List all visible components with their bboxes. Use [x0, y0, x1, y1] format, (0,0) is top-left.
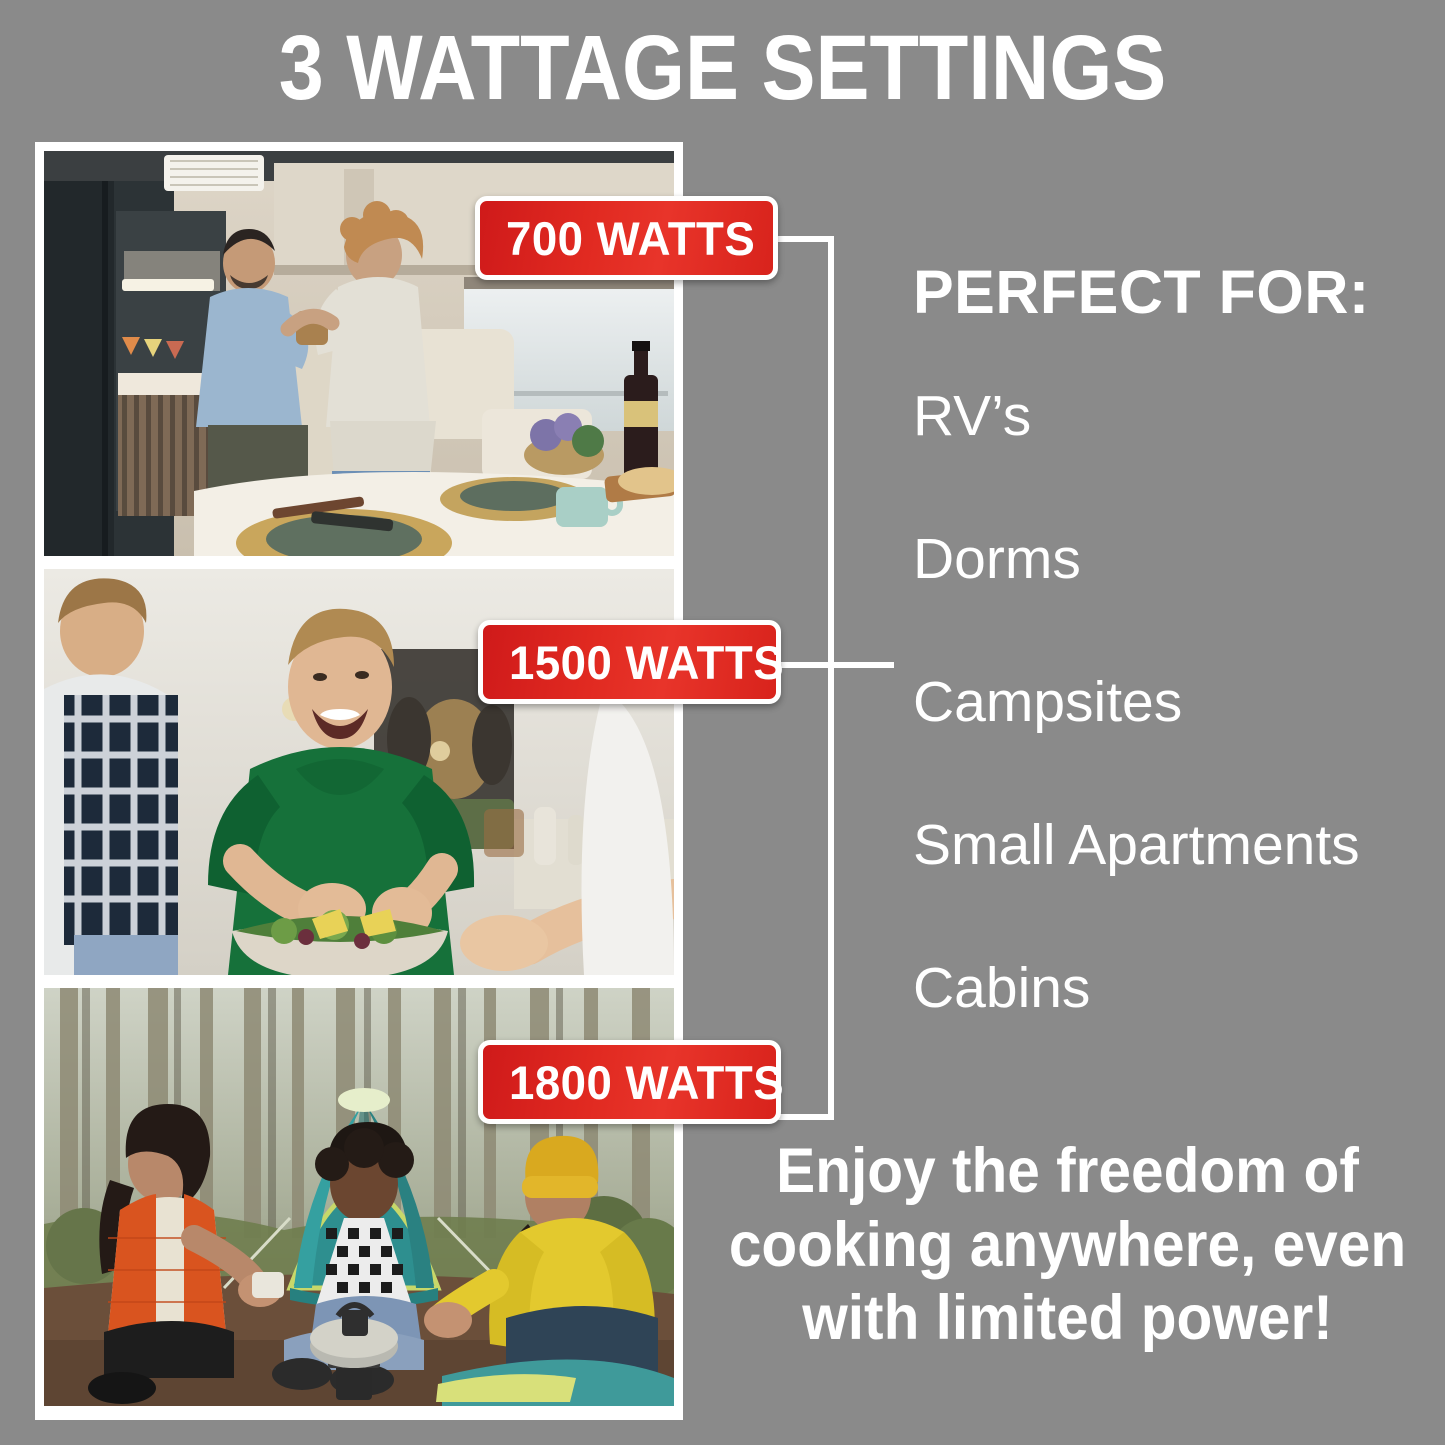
- photo-stack: [44, 151, 674, 1411]
- use-case-campsites: Campsites: [913, 674, 1433, 731]
- infographic-canvas: 3 WATTAGE SETTINGS: [0, 0, 1445, 1445]
- wattage-badge-1800: 1800 WATTS: [478, 1040, 781, 1124]
- perfect-for-heading: PERFECT FOR:: [913, 262, 1370, 323]
- use-case-dorms: Dorms: [913, 531, 1433, 588]
- tagline-text: Enjoy the freedom of cooking anywhere, e…: [726, 1135, 1410, 1356]
- wattage-badge-1500: 1500 WATTS: [478, 620, 781, 704]
- use-case-rvs: RV’s: [913, 388, 1433, 445]
- bracket-arm-1800: [778, 1114, 834, 1120]
- use-case-cabins: Cabins: [913, 960, 1433, 1017]
- page-title: 3 WATTAGE SETTINGS: [87, 22, 1359, 114]
- bracket-arm-1500: [778, 662, 834, 668]
- wattage-badge-700-label: 700 WATTS: [506, 215, 755, 262]
- wattage-badge-700: 700 WATTS: [475, 196, 778, 280]
- photo-frame: [35, 142, 683, 1420]
- use-case-small-apartments: Small Apartments: [913, 817, 1433, 874]
- bracket-stub-to-callout: [828, 662, 894, 668]
- wattage-badge-1800-label: 1800 WATTS: [509, 1059, 784, 1106]
- bracket-arm-700: [778, 236, 834, 242]
- bracket-vertical-line: [828, 236, 834, 1120]
- use-case-list: RV’s Dorms Campsites Small Apartments Ca…: [913, 388, 1433, 1103]
- wattage-badge-1500-label: 1500 WATTS: [509, 639, 784, 686]
